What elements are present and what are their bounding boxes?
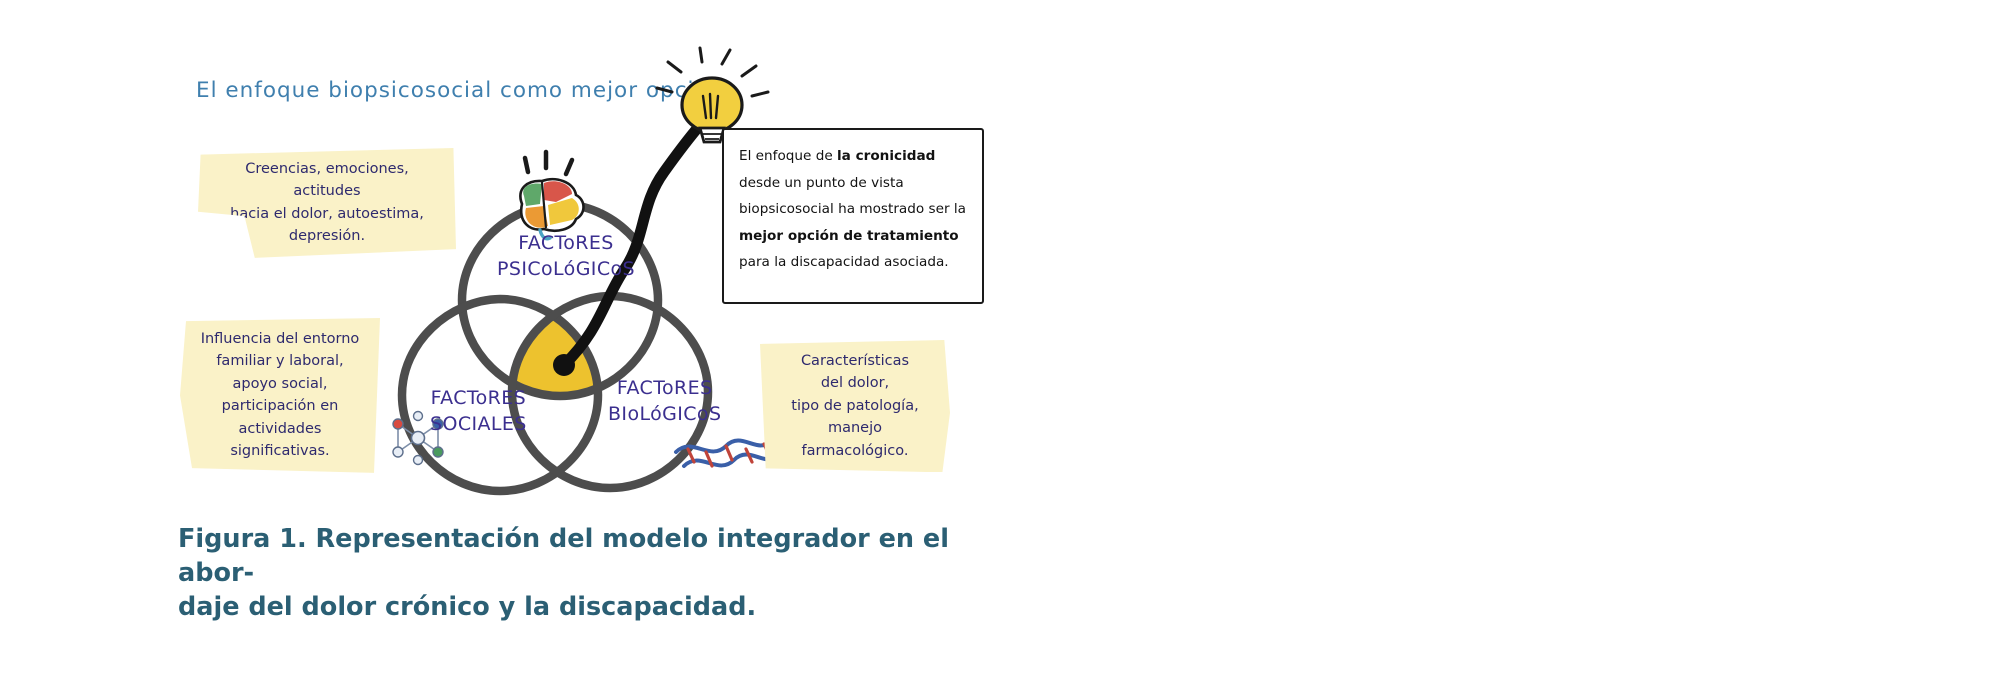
sticky-biological-line3: tipo de patología, [772,395,938,417]
sticky-social-line2: familiar y laboral, [192,350,368,372]
venn-label-social-line2: SOCIALES [430,411,527,437]
figure-caption-line2: daje del dolor crónico y la discapacidad… [178,591,998,625]
venn-label-social-line1: FACToRES [430,385,527,411]
sticky-note-social: Influencia del entorno familiar y labora… [180,318,380,473]
venn-label-psychological-line2: PSICoLóGICoS [497,256,635,282]
venn-label-psychological-line1: FACToRES [497,230,635,256]
sticky-social-line4: participación en [192,395,368,417]
sticky-social-line5: actividades [192,418,368,440]
brain-icon [520,152,583,239]
sticky-note-biological: Características del dolor, tipo de patol… [760,340,950,472]
venn-label-psychological: FACToRES PSICoLóGICoS [497,230,635,282]
venn-label-social: FACToRES SOCIALES [430,385,527,437]
sticky-biological-line5: farmacológico. [772,440,938,462]
sticky-social-line6: significativas. [192,440,368,462]
figure-caption: Figura 1. Representación del modelo inte… [178,523,998,625]
sticky-biological-line1: Características [772,350,938,372]
venn-label-biological: FACToRES BIoLóGICoS [608,375,721,427]
biopsychosocial-figure: El enfoque biopsicosocial como mejor opc… [0,0,2000,678]
callout-box: El enfoque de la cronicidad desde un pun… [722,128,984,304]
figure-caption-line1: Figura 1. Representación del modelo inte… [178,523,998,591]
callout-text-part1: El enfoque de [739,148,837,164]
sticky-biological-line2: del dolor, [772,372,938,394]
venn-label-biological-line2: BIoLóGICoS [608,401,721,427]
sticky-biological-line4: manejo [772,417,938,439]
callout-bold-mejor-opcion: mejor opción de tratamiento [739,228,959,244]
callout-bold-cronicidad: la cronicidad [837,148,935,164]
callout-text-part3: para la discapacidad asociada. [739,254,949,270]
venn-label-biological-line1: FACToRES [608,375,721,401]
sticky-psychological-line1: Creencias, emociones, actitudes [210,158,444,203]
sticky-social-line3: apoyo social, [192,373,368,395]
figure-page: El enfoque biopsicosocial como mejor opc… [0,0,2000,678]
sticky-social-line1: Influencia del entorno [192,328,368,350]
callout-text-part2: desde un punto de vista biopsicosocial h… [739,175,966,218]
